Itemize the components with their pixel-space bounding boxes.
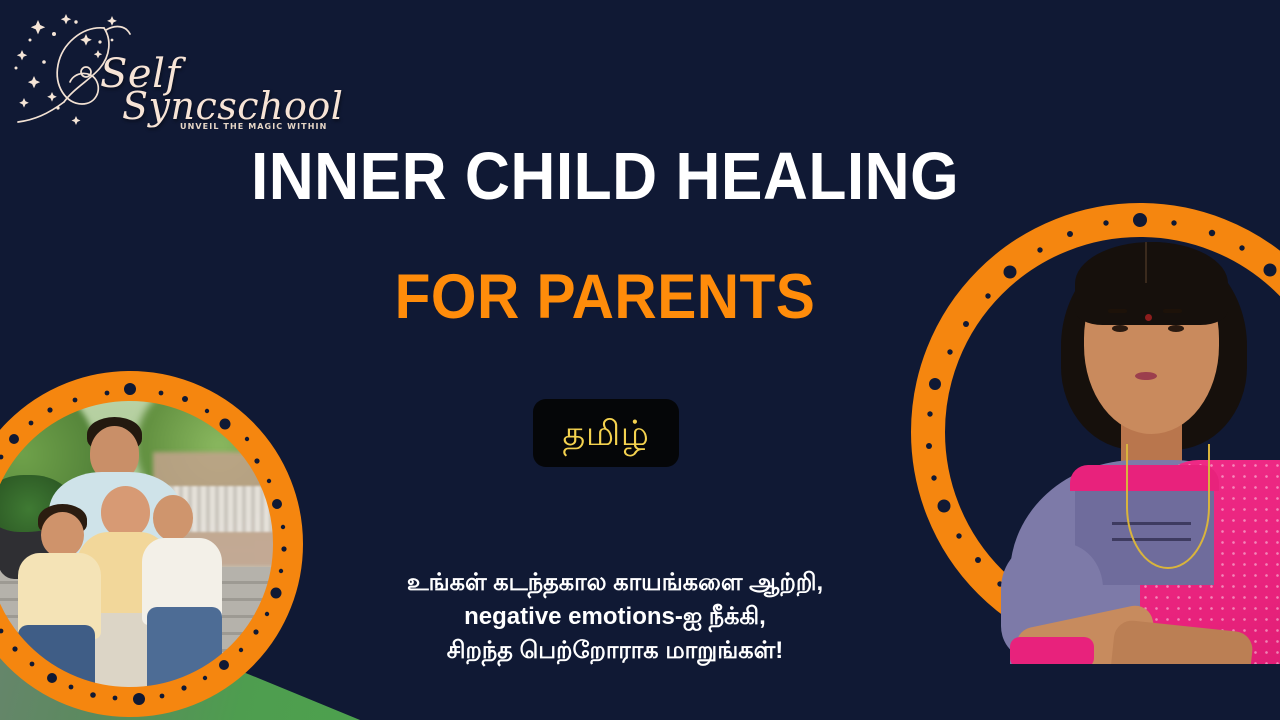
body-copy-line-2: negative emotions-ஐ நீக்கி, [265, 600, 965, 634]
brand-logo[interactable]: Self Syncschool Unveil the Magic Within [8, 10, 288, 135]
body-copy-line-1: உங்கள் கடந்தகால காயங்களை ஆற்றி, [265, 566, 965, 600]
brand-wordmark: Self Syncschool [100, 58, 343, 122]
page-title: INNER CHILD HEALING [42, 143, 1167, 210]
brand-word-line2: Syncschool [122, 91, 343, 122]
brand-tagline: Unveil the Magic Within [180, 122, 327, 131]
language-badge: தமிழ் [533, 399, 679, 467]
language-badge-label: தமிழ் [563, 416, 650, 451]
family-photo-frame [0, 371, 303, 717]
body-copy: உங்கள் கடந்தகால காயங்களை ஆற்றி, negative… [265, 566, 965, 668]
dotted-ring-icon [0, 371, 303, 717]
body-copy-line-3: சிறந்த பெற்றோராக மாறுங்கள்! [265, 634, 965, 668]
portrait-bottom-mask [908, 664, 1280, 720]
banner-canvas: Self Syncschool Unveil the Magic Within … [0, 0, 1280, 720]
page-subtitle: FOR PARENTS [42, 266, 1167, 329]
